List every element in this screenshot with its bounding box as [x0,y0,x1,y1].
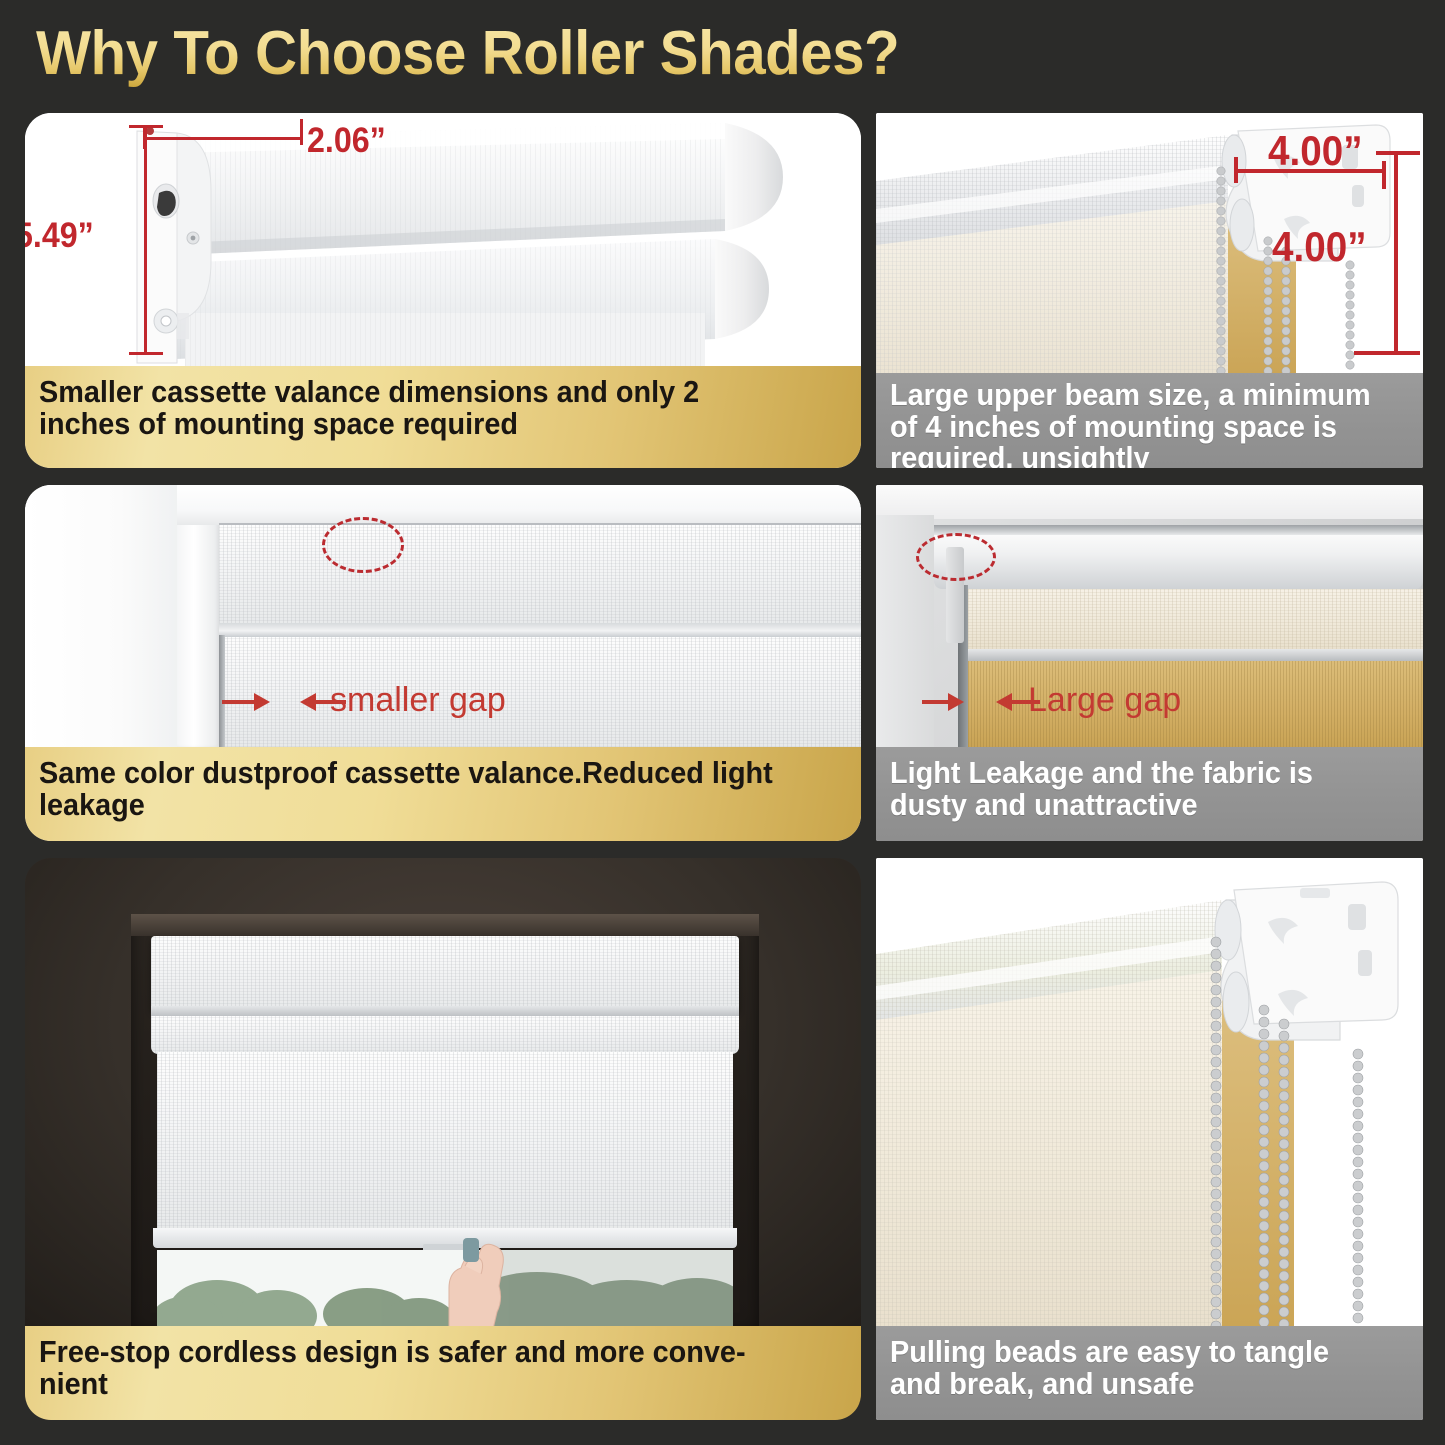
width-dim-line [143,137,303,140]
cassette-valance-illustration [25,113,861,366]
panel-5-caption: Free-stop cordless design is safer and m… [25,1326,861,1420]
roller-shade-beads-illustration [876,858,1423,1326]
cream-fabric-band [964,589,1423,653]
panel-3-photo: smaller gap [25,485,861,747]
panel-4-caption: Light Leakage and the fabric is dusty an… [876,747,1423,841]
beam-width-label: 4.00” [1268,127,1363,175]
beam-height-tick-top [1376,151,1420,155]
panel-1-photo: 2.06” 5.49” [25,113,861,366]
headrail [934,529,1423,589]
gap-highlight-ellipse [322,517,404,573]
cream-band-edge [964,649,1423,661]
panel-cordless-design: Free-stop cordless design is safer and m… [25,858,861,1420]
panel-6-caption: Pulling beads are easy to tangle and bre… [876,1326,1423,1420]
bead-chain-4 [1346,261,1354,369]
large-gap-label: Large gap [1028,681,1181,720]
shade-fabric-panel [157,1052,733,1232]
panel-6-photo [876,858,1423,1326]
panel-light-leakage: Large gap Light Leakage and the fabric i… [876,485,1423,841]
panel-1-caption-text: Smaller cassette valance dimensions and … [39,376,790,439]
panel-5-caption-text: Free-stop cordless design is safer and m… [39,1336,790,1399]
width-dim-tick-right [300,119,303,145]
width-dimension-label: 2.06” [307,121,386,161]
cassette-valance [151,936,739,1010]
infographic-root: Why To Choose Roller Shades? [0,0,1445,1445]
beam-height-tick-bottom [1354,351,1420,355]
cassette-valance-front [219,523,861,627]
panel-1-caption: Smaller cassette valance dimensions and … [25,366,861,468]
window-frame-left [25,485,185,747]
panel-4-photo: Large gap [876,485,1423,747]
beam-height-dim-line [1394,151,1398,355]
gap-highlight-ellipse [916,533,996,581]
window-recess-lintel [131,914,759,936]
panel-2-photo: 4.00” 4.00” [876,113,1423,373]
beam-width-tick-right [1382,161,1386,189]
panel-6-caption-text: Pulling beads are easy to tangle and bre… [890,1336,1373,1399]
headrail-top-slant [934,525,1423,535]
smaller-gap-label: smaller gap [330,681,506,720]
hand-illustration [413,1236,533,1326]
beam-width-tick-left [1234,157,1238,183]
panel-2-caption-text: Large upper beam size, a minimum of 4 in… [890,379,1373,468]
bead-chain-1 [1217,167,1225,373]
height-dim-line [144,125,147,355]
beam-height-label: 4.00” [1272,223,1367,271]
panel-dustproof-cassette: smaller gap Same color dustproof cassett… [25,485,861,841]
height-dim-tick-top [129,125,163,128]
header-board [876,485,1423,519]
panel-3-caption-text: Same color dustproof cassette valance.Re… [39,757,790,820]
panel-3-caption: Same color dustproof cassette valance.Re… [25,747,861,841]
panel-large-upper-beam: 4.00” 4.00” Large upper beam size, a min… [876,113,1423,468]
panel-4-caption-text: Light Leakage and the fabric is dusty an… [890,757,1373,820]
page-title: Why To Choose Roller Shades? [36,18,899,89]
panel-5-photo [25,858,861,1326]
panel-smaller-cassette: 2.06” 5.49” Smaller cassette valance dim… [25,113,861,468]
valance-lower-lip [151,1016,739,1054]
bead-chain-4 [1353,1049,1363,1323]
height-dim-tick-bottom [129,352,163,355]
height-dimension-label: 5.49” [25,216,94,256]
panel-pulling-beads: Pulling beads are easy to tangle and bre… [876,858,1423,1420]
panel-2-caption: Large upper beam size, a minimum of 4 in… [876,373,1423,468]
window-frame-top [177,485,861,525]
valance-bottom-edge [219,623,861,637]
